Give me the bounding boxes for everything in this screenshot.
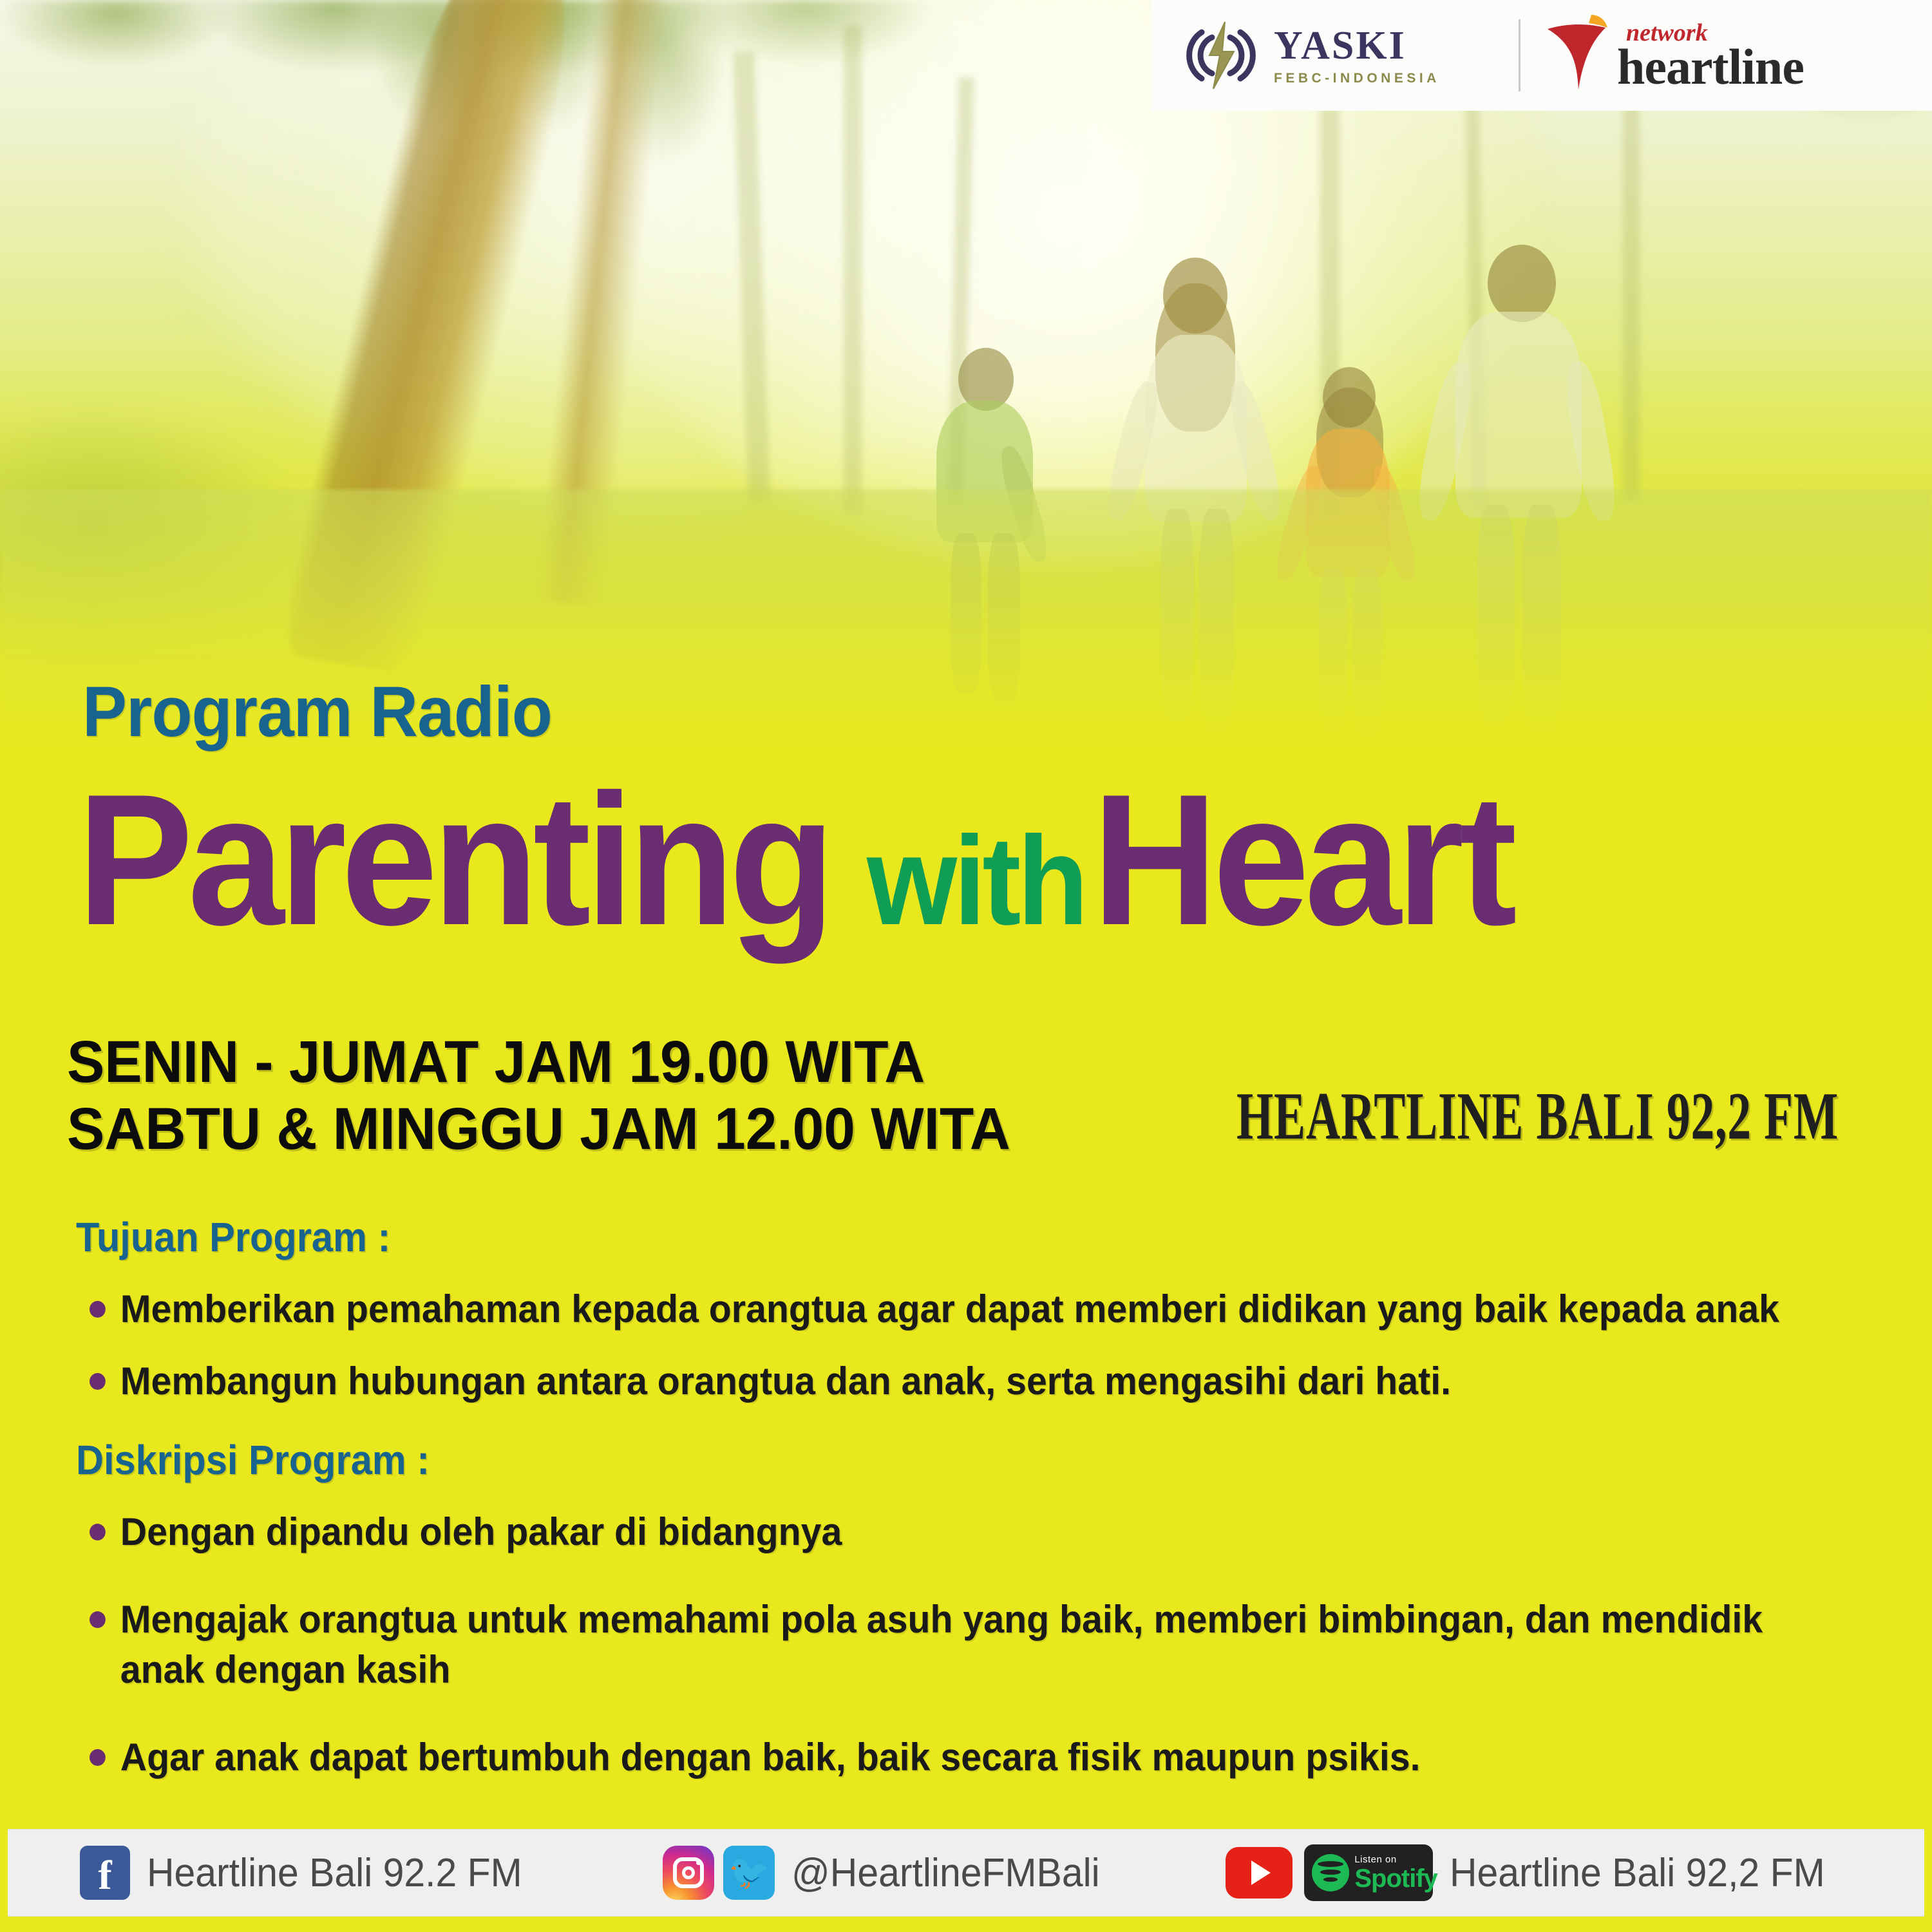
title-word-with: with: [867, 818, 1084, 944]
spotify-wordmark: Spotify: [1354, 1866, 1437, 1891]
page-title: ParentingwithHeart: [77, 766, 1544, 953]
vertical-divider: [1519, 19, 1520, 91]
father-torso: [1455, 312, 1582, 518]
facebook-label: Heartline Bali 92.2 FM: [147, 1850, 522, 1896]
section-heading: Diskripsi Program :: [76, 1436, 1741, 1484]
broadcast-schedule: SENIN - JUMAT JAM 19.00 WITA SABTU & MIN…: [67, 1029, 1010, 1163]
father-head: [1488, 245, 1556, 322]
header-logo-band: YASKI FEBC-INDONESIA network heartline: [1151, 0, 1932, 111]
diskripsi-bullet-list: Dengan dipandu oleh pakar di bidangnya M…: [76, 1507, 1866, 1783]
spotify-icon[interactable]: Listen on Spotify: [1304, 1844, 1433, 1901]
heartline-logo: network heartline: [1544, 14, 1804, 97]
background-palm-trunk: [844, 26, 862, 515]
yaski-wordmark: YASKI FEBC-INDONESIA: [1274, 26, 1440, 85]
social-handle-label: @HeartlineFMBali: [791, 1850, 1100, 1896]
streaming-entry[interactable]: Listen on Spotify Heartline Bali 92,2 FM: [1226, 1844, 1844, 1901]
background-palm-trunk: [1623, 90, 1640, 502]
section-tujuan-program: Tujuan Program : Memberikan pemahaman ke…: [76, 1213, 1866, 1428]
social-footer-bar: f Heartline Bali 92.2 FM 🐦 @HeartlineFMB…: [8, 1829, 1924, 1917]
station-name: HEARTLINE BALI 92,2 FM: [1236, 1077, 1839, 1155]
list-item: Dengan dipandu oleh pakar di bidangnya: [76, 1507, 1786, 1557]
spotify-listen-on: Listen on: [1354, 1855, 1437, 1864]
facebook-icon[interactable]: f: [80, 1846, 130, 1900]
section-heading: Tujuan Program :: [76, 1213, 1741, 1261]
heartline-name: heartline: [1617, 44, 1804, 90]
social-handle-entry[interactable]: 🐦 @HeartlineFMBali: [663, 1846, 1116, 1900]
list-item: Mengajak orangtua untuk memahami pola as…: [76, 1595, 1786, 1695]
poster-root: YASKI FEBC-INDONESIA network heartline P…: [0, 0, 1932, 1932]
title-word-parenting: Parenting: [77, 766, 829, 953]
list-item: Agar anak dapat bertumbuh dengan baik, b…: [76, 1732, 1786, 1783]
yaski-name: YASKI: [1274, 26, 1440, 66]
program-eyebrow: Program Radio: [82, 671, 552, 753]
youtube-icon[interactable]: [1226, 1847, 1293, 1899]
radio-wave-lightning-icon: [1180, 19, 1262, 91]
schedule-line-weekend: SABTU & MINGGU JAM 12.00 WITA: [67, 1096, 1010, 1163]
yaski-logo: YASKI FEBC-INDONESIA: [1151, 19, 1512, 91]
list-item: Memberikan pemahaman kepada orangtua aga…: [76, 1284, 1786, 1334]
hero-photo: [0, 0, 1932, 760]
heartline-wordmark: network heartline: [1617, 21, 1804, 90]
twitter-icon[interactable]: 🐦: [723, 1846, 775, 1900]
spotify-label: Heartline Bali 92,2 FM: [1450, 1850, 1825, 1896]
instagram-icon[interactable]: [663, 1846, 714, 1900]
list-item: Membangun hubungan antara orangtua dan a…: [76, 1356, 1786, 1406]
section-diskripsi-program: Diskripsi Program : Dengan dipandu oleh …: [76, 1436, 1866, 1820]
heartline-figure-icon: [1544, 14, 1621, 97]
tujuan-bullet-list: Memberikan pemahaman kepada orangtua aga…: [76, 1284, 1866, 1406]
facebook-entry[interactable]: f Heartline Bali 92.2 FM: [80, 1846, 542, 1900]
title-word-heart: Heart: [1092, 766, 1512, 953]
schedule-line-weekday: SENIN - JUMAT JAM 19.00 WITA: [67, 1029, 1010, 1096]
yaski-subtitle: FEBC-INDONESIA: [1274, 71, 1440, 85]
